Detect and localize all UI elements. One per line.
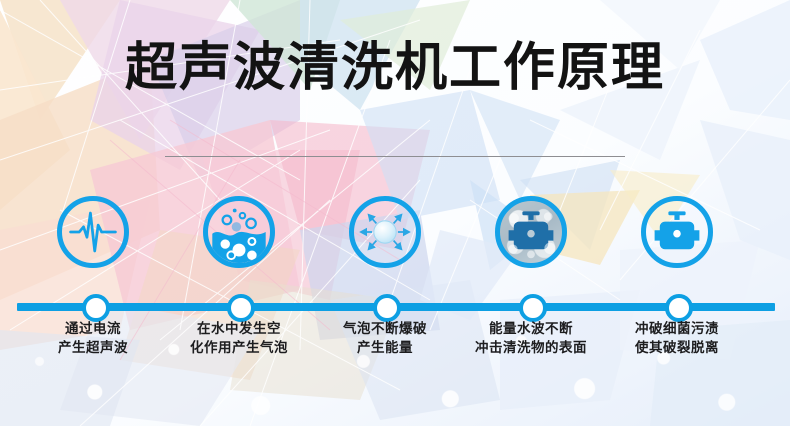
step-5[interactable]: 冲破细菌污渍 使其破裂脱离 (598, 196, 756, 358)
step-2-line1: 在水中发生空 (197, 321, 281, 337)
title-divider (165, 156, 625, 157)
step-4-caption: 能量水波不断 冲击清洗物的表面 (452, 320, 610, 358)
waveform-pulse-icon (62, 201, 124, 263)
bubble-burst-arrows-icon (354, 201, 416, 263)
step-4-icon-circle (495, 196, 567, 268)
step-1-line2: 产生超声波 (14, 339, 172, 358)
step-1-icon-circle (57, 196, 129, 268)
clean-engine-part-icon (646, 201, 708, 263)
step-3-line2: 产生能量 (306, 339, 464, 358)
step-3-line1: 气泡不断爆破 (343, 321, 427, 337)
step-4-line1: 能量水波不断 (489, 321, 573, 337)
step-3-caption: 气泡不断爆破 产生能量 (306, 320, 464, 358)
step-3-icon-circle (349, 196, 421, 268)
step-5-line2: 使其破裂脱离 (598, 339, 756, 358)
dirty-engine-part-icon (500, 201, 562, 263)
infographic-page: 超声波清洗机工作原理 通过电流 产生超声波 (0, 0, 790, 426)
step-1-caption: 通过电流 产生超声波 (14, 320, 172, 358)
water-bubbles-icon (208, 201, 270, 263)
step-5-line1: 冲破细菌污渍 (635, 321, 719, 337)
step-2-caption: 在水中发生空 化作用产生气泡 (160, 320, 318, 358)
step-2[interactable]: 在水中发生空 化作用产生气泡 (160, 196, 318, 358)
page-title: 超声波清洗机工作原理 (0, 42, 790, 94)
step-1[interactable]: 通过电流 产生超声波 (14, 196, 172, 358)
step-4[interactable]: 能量水波不断 冲击清洗物的表面 (452, 196, 610, 358)
step-1-line1: 通过电流 (65, 321, 121, 337)
step-4-line2: 冲击清洗物的表面 (452, 339, 610, 358)
step-3[interactable]: 气泡不断爆破 产生能量 (306, 196, 464, 358)
step-5-icon-circle (641, 196, 713, 268)
step-2-line2: 化作用产生气泡 (160, 339, 318, 358)
step-5-caption: 冲破细菌污渍 使其破裂脱离 (598, 320, 756, 358)
step-2-icon-circle (203, 196, 275, 268)
